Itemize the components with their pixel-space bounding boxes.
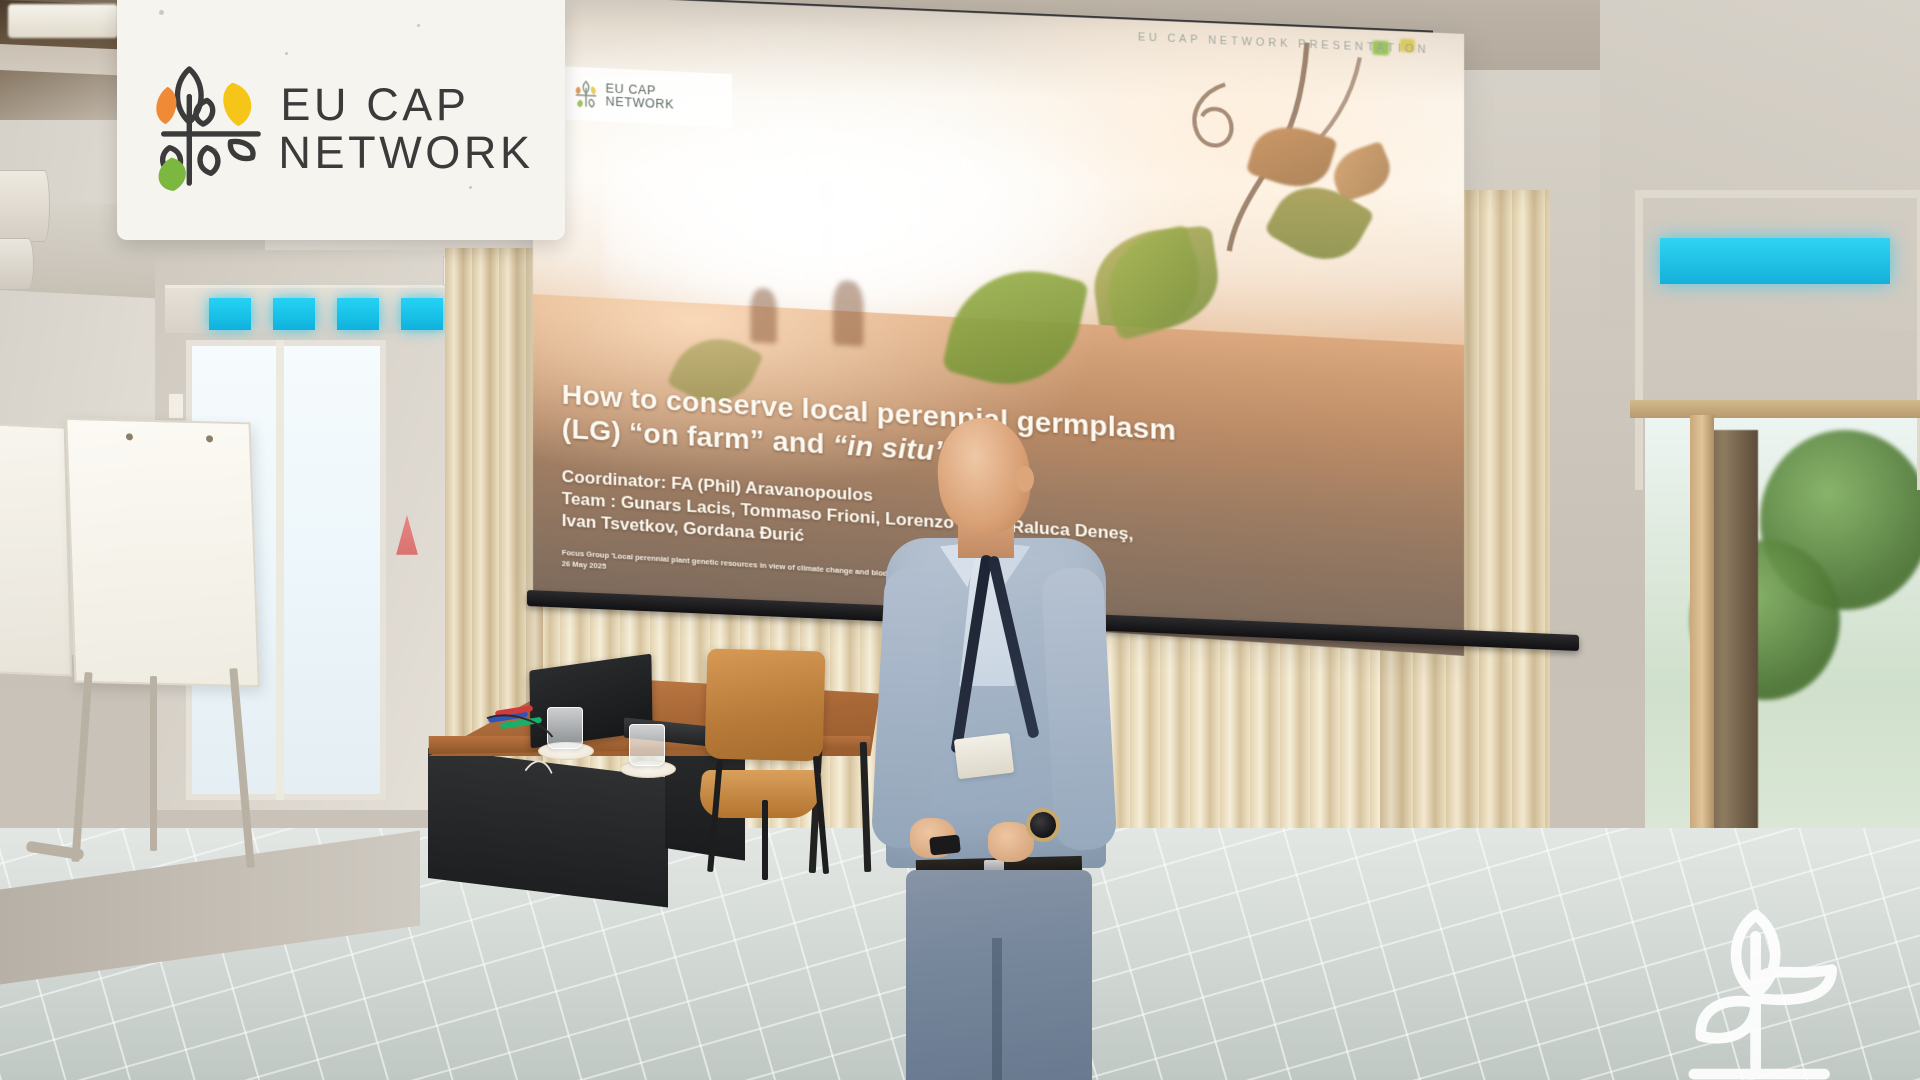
wooden-chair-back[interactable] bbox=[705, 648, 826, 761]
logo-line2: NETWORK bbox=[278, 129, 533, 177]
flipchart-clip bbox=[126, 433, 133, 440]
flipchart-secondary bbox=[0, 423, 72, 676]
blue-transom-light bbox=[273, 298, 315, 330]
light-switch[interactable] bbox=[168, 393, 184, 419]
ceiling-light-fixture bbox=[8, 4, 118, 38]
name-badge bbox=[954, 733, 1014, 780]
flipchart-clip bbox=[206, 435, 213, 442]
slide-logo-card: EU CAP NETWORK bbox=[564, 67, 733, 128]
slide-logo-line2: NETWORK bbox=[606, 94, 675, 111]
logo-line1: EU CAP bbox=[280, 79, 469, 130]
wood-beam-vertical bbox=[1690, 415, 1714, 885]
presentation-clicker[interactable] bbox=[929, 834, 961, 855]
presenter-ear bbox=[1016, 466, 1034, 492]
background-silhouette bbox=[833, 280, 864, 346]
background-silhouette bbox=[750, 288, 776, 344]
eu-cap-network-logo-card: EU CAP NETWORK bbox=[117, 0, 565, 240]
drinking-glass[interactable] bbox=[629, 724, 665, 766]
paper-speck bbox=[469, 186, 472, 189]
ventilation-pipe-secondary bbox=[0, 238, 34, 290]
paper-speck bbox=[417, 24, 420, 27]
window-frame bbox=[1635, 190, 1920, 490]
flipchart-leg bbox=[150, 676, 157, 851]
eu-cap-network-wordmark: EU CAP NETWORK bbox=[280, 81, 533, 176]
transom-panel bbox=[165, 285, 465, 333]
ventilation-pipe bbox=[0, 170, 50, 242]
paper-speck bbox=[285, 52, 288, 55]
wood-beam-horizontal bbox=[1630, 400, 1920, 418]
blue-transom-light bbox=[337, 298, 379, 330]
jeans-leg-seam bbox=[992, 938, 1002, 1080]
plant-sprout-watermark-icon bbox=[1682, 896, 1872, 1080]
eu-cap-network-logo-icon bbox=[148, 63, 266, 195]
paper-speck bbox=[159, 10, 164, 15]
door-mullion bbox=[276, 340, 284, 800]
flipchart-board[interactable] bbox=[65, 418, 260, 687]
paper-speck bbox=[213, 148, 217, 152]
screenshot-canvas: EU CAP NETWORK PRESENTATION bbox=[0, 0, 1920, 1080]
slide-logo-text: EU CAP NETWORK bbox=[606, 82, 675, 111]
vine-illustration bbox=[1046, 23, 1445, 372]
blue-transom-light bbox=[209, 298, 251, 330]
presenter bbox=[880, 418, 1110, 1080]
blue-transom-light bbox=[401, 298, 443, 330]
chair-leg bbox=[762, 800, 768, 880]
eu-cap-network-logo-icon bbox=[572, 79, 600, 110]
